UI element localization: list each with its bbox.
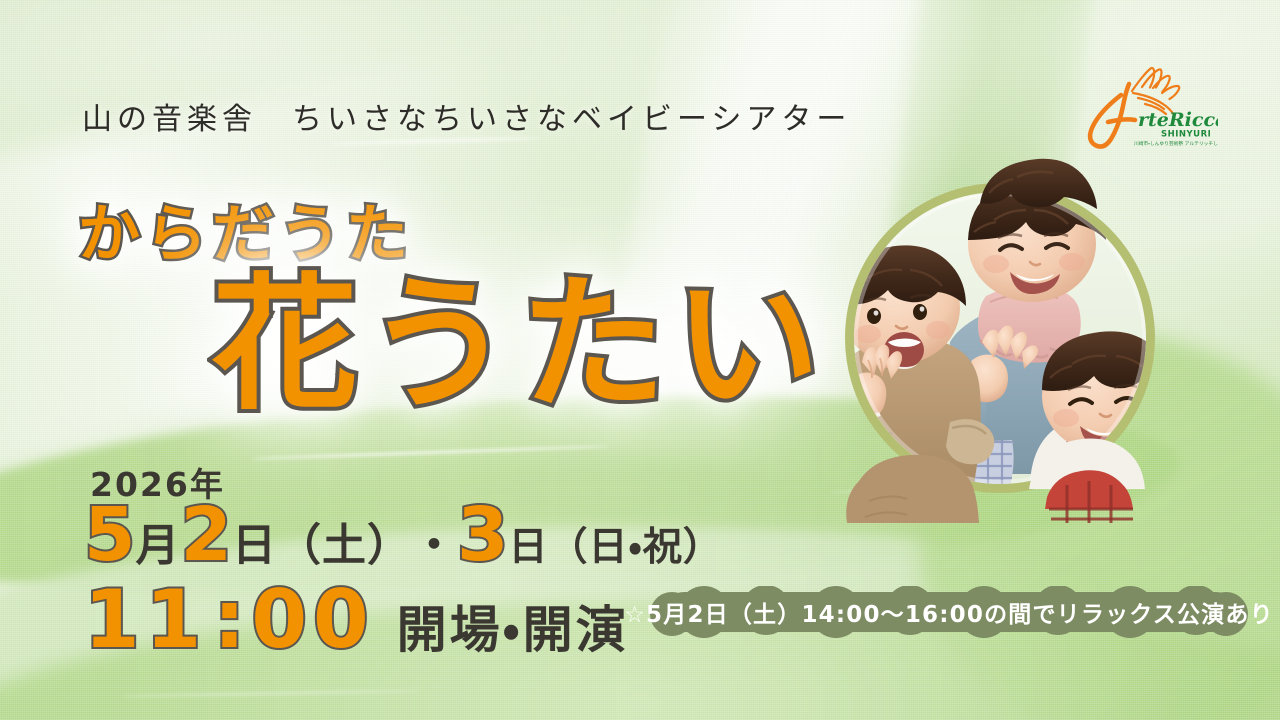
date-line: 5 月 2 日（土） ・ 3 日（日・祝） [84,498,723,572]
organizer-series-line: 山の音楽舎 ちいさなちいさなベイビーシアター [82,94,851,138]
photo-circle [845,183,1155,493]
time-hour: 11 [84,580,207,660]
logo-mark: rteRicca SHINYURI 川崎市・しんゆり芸術祭 アルテリッチしんゆり [1078,62,1218,154]
time-line: 11 : 00 開場・開演 [84,580,629,660]
relax-performance-badge: ☆5月2日（土）14:00〜16:00の間でリラックス公演あり [648,586,1250,638]
arte-ricca-logo[interactable]: rteRicca SHINYURI 川崎市・しんゆり芸術祭 アルテリッチしんゆり [1078,62,1218,154]
logo-sub-shinyuri: SHINYURI [1161,130,1211,140]
photo-ring-frame [845,183,1155,493]
time-label: 開場・開演 [397,605,629,655]
date-day2-number: 3 [457,498,509,572]
logo-tagline: 川崎市・しんゆり芸術祭 アルテリッチしんゆり [1134,140,1218,147]
date-month-number: 5 [84,498,136,572]
poster-root: 山の音楽舎 ちいさなちいさなベイビーシアター からだうた 花うたい 2026年 … [0,0,1280,720]
time-minute: 00 [251,580,374,660]
date-separator: ・ [412,524,457,568]
time-colon: : [207,580,251,660]
logo-wordmark: rteRicca [1138,109,1218,131]
date-day1-number: 2 [181,498,233,572]
date-month-label: 月 [136,524,181,568]
babies-photo [854,192,1146,484]
title-main: 花うたい [212,272,828,418]
date-day1-label: 日（土） [232,524,412,568]
date-day2-label: 日（日・祝） [509,528,723,567]
badge-note-text: ☆5月2日（土）14:00〜16:00の間でリラックス公演あり [648,586,1250,638]
